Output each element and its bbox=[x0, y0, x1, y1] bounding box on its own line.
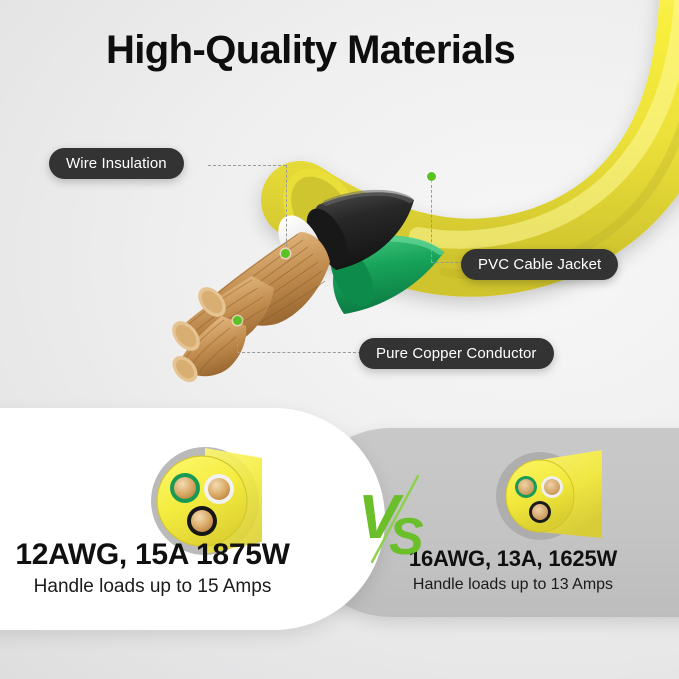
callout-pvc-cable-jacket[interactable]: PVC Cable Jacket bbox=[461, 249, 618, 280]
anchor-dot-jacket bbox=[427, 172, 436, 181]
anchor-dot-insulation bbox=[281, 249, 290, 258]
callout-pure-copper-conductor[interactable]: Pure Copper Conductor bbox=[359, 338, 554, 369]
vs-badge: V S bbox=[356, 472, 434, 566]
infographic-canvas: High-Quality Materials Wire Insulation P… bbox=[0, 0, 679, 679]
leader-line-insulation-v bbox=[286, 165, 287, 251]
svg-text:S: S bbox=[389, 508, 424, 566]
hero-section: High-Quality Materials Wire Insulation P… bbox=[0, 0, 679, 408]
callout-wire-insulation-label: Wire Insulation bbox=[66, 155, 167, 172]
cable-cross-section-icon-16awg bbox=[484, 446, 604, 551]
leader-line-jacket-h bbox=[431, 262, 463, 263]
leader-line-copper-h bbox=[237, 352, 361, 353]
leader-line-insulation-h bbox=[208, 165, 286, 166]
callout-wire-insulation[interactable]: Wire Insulation bbox=[49, 148, 184, 179]
callout-pure-copper-conductor-label: Pure Copper Conductor bbox=[376, 345, 537, 362]
callout-pvc-cable-jacket-label: PVC Cable Jacket bbox=[478, 256, 601, 273]
card-12awg-title: 12AWG, 15A 1875W bbox=[0, 538, 345, 572]
anchor-dot-copper bbox=[233, 316, 242, 325]
leader-line-copper-v bbox=[237, 324, 238, 352]
comparison-card-12awg: 12AWG, 15A 1875W Handle loads up to 15 A… bbox=[0, 408, 385, 630]
card-12awg-subtitle: Handle loads up to 15 Amps bbox=[0, 576, 345, 598]
leader-line-jacket-v bbox=[431, 180, 432, 262]
page-title: High-Quality Materials bbox=[106, 28, 515, 73]
